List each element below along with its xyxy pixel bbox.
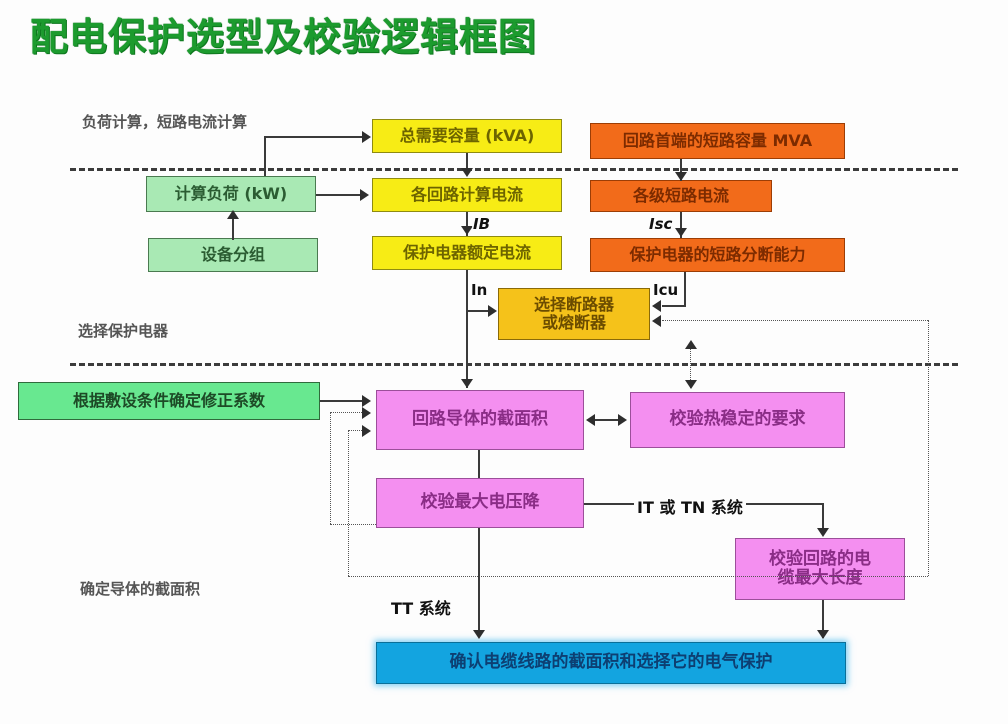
arrow-into-total-capacity	[362, 131, 371, 143]
feedback-edge-b-v	[330, 412, 331, 524]
box-final-confirm[interactable]: 确认电缆线路的截面积和选择它的电气保护	[376, 642, 846, 684]
arrow-into-final-confirm-left	[473, 630, 485, 639]
label-tt-system: TT 系统	[388, 595, 454, 619]
feedback-edge-c-bottom	[348, 576, 928, 577]
arrow-into-calc-load	[227, 210, 239, 219]
arrow-into-circuit-current-left	[360, 189, 369, 201]
box-equipment-grouping[interactable]: 设备分组	[148, 238, 318, 272]
box-conductor-section[interactable]: 回路导体的截面积	[376, 390, 584, 450]
arrow-into-circuit-current	[461, 168, 473, 177]
box-calc-load-kw[interactable]: 计算负荷 (kW)	[146, 176, 316, 212]
edge-rated-down	[466, 270, 468, 312]
label-ib: IB	[472, 215, 491, 233]
box-stage-short-circuit-current[interactable]: 各级短路电流	[590, 180, 772, 212]
flowchart-canvas: 配电保护选型及校验逻辑框图 负荷计算，短路电流计算 选择保护电器 确定导体的截面…	[0, 0, 1008, 724]
box-select-breaker-or-fuse[interactable]: 选择断路器 或熔断器	[498, 288, 650, 340]
box-circuit-calc-current[interactable]: 各回路计算电流	[372, 178, 562, 212]
edge-load-to-capacity-v	[264, 136, 266, 176]
feedback-edge-c-right	[928, 320, 929, 576]
page-title: 配电保护选型及校验逻辑框图	[30, 6, 537, 61]
arrow-into-selector-feedback	[652, 315, 661, 327]
arrow-into-conductor-section-top	[461, 379, 473, 388]
box-short-circuit-mva[interactable]: 回路首端的短路容量 MVA	[590, 123, 845, 159]
caption-select-protection-device: 选择保护电器	[78, 320, 168, 341]
arrow-into-thermal-top	[685, 380, 697, 389]
arrow-into-final-confirm-right	[817, 630, 829, 639]
edge-load-to-circuit-current	[316, 194, 364, 196]
edge-voltage-drop-down	[478, 528, 480, 636]
box-thermal-stability[interactable]: 校验热稳定的要求	[630, 392, 845, 448]
arrow-thermal-to-conductor	[586, 414, 595, 426]
label-in: In	[470, 281, 488, 299]
feedback-edge-c-v	[348, 430, 349, 576]
arrow-into-conductor-section-a	[362, 395, 371, 407]
arrow-into-conductor-section-b	[362, 407, 371, 419]
feedback-edge-b-bottom	[330, 524, 376, 525]
arrow-into-selector-right	[652, 300, 661, 312]
caption-determine-conductor-section: 确定导体的截面积	[80, 578, 200, 599]
box-max-cable-length[interactable]: 校验回路的电 缆最大长度	[735, 538, 905, 600]
caption-load-calculation: 负荷计算，短路电流计算	[82, 111, 247, 132]
box-rated-current[interactable]: 保护电器额定电流	[372, 236, 562, 270]
label-it-tn-system: IT 或 TN 系统	[634, 494, 746, 518]
box-max-voltage-drop[interactable]: 校验最大电压降	[376, 478, 584, 528]
arrow-into-selector-bottom	[685, 340, 697, 349]
arrow-into-cable-length	[817, 528, 829, 537]
arrow-conductor-to-thermal	[618, 414, 627, 426]
label-icu: Icu	[652, 281, 679, 299]
band-separator-top	[70, 168, 958, 171]
feedback-edge-b-h	[330, 412, 364, 413]
edge-conductor-to-voltage-drop	[478, 450, 480, 478]
arrow-into-stage-current	[675, 172, 687, 181]
band-separator-middle	[70, 363, 958, 366]
box-total-capacity[interactable]: 总需要容量 (kVA)	[372, 119, 562, 153]
edge-rated-to-conductor-v	[466, 312, 468, 388]
box-correction-factor[interactable]: 根据敷设条件确定修正系数	[18, 382, 320, 420]
arrow-into-selector-left	[488, 305, 497, 317]
edge-breaking-to-selector-h	[662, 305, 686, 307]
edge-breaking-down	[684, 272, 686, 306]
label-isc: Isc	[648, 215, 673, 233]
box-breaking-capacity[interactable]: 保护电器的短路分断能力	[590, 238, 845, 272]
arrow-into-breaking-capacity	[675, 228, 687, 237]
edge-load-to-capacity-h	[264, 136, 364, 138]
edge-correction-to-conductor	[320, 400, 366, 402]
feedback-edge-c-top	[662, 320, 928, 321]
arrow-into-conductor-section-c	[362, 425, 371, 437]
edge-rated-to-selector-h	[466, 310, 490, 312]
